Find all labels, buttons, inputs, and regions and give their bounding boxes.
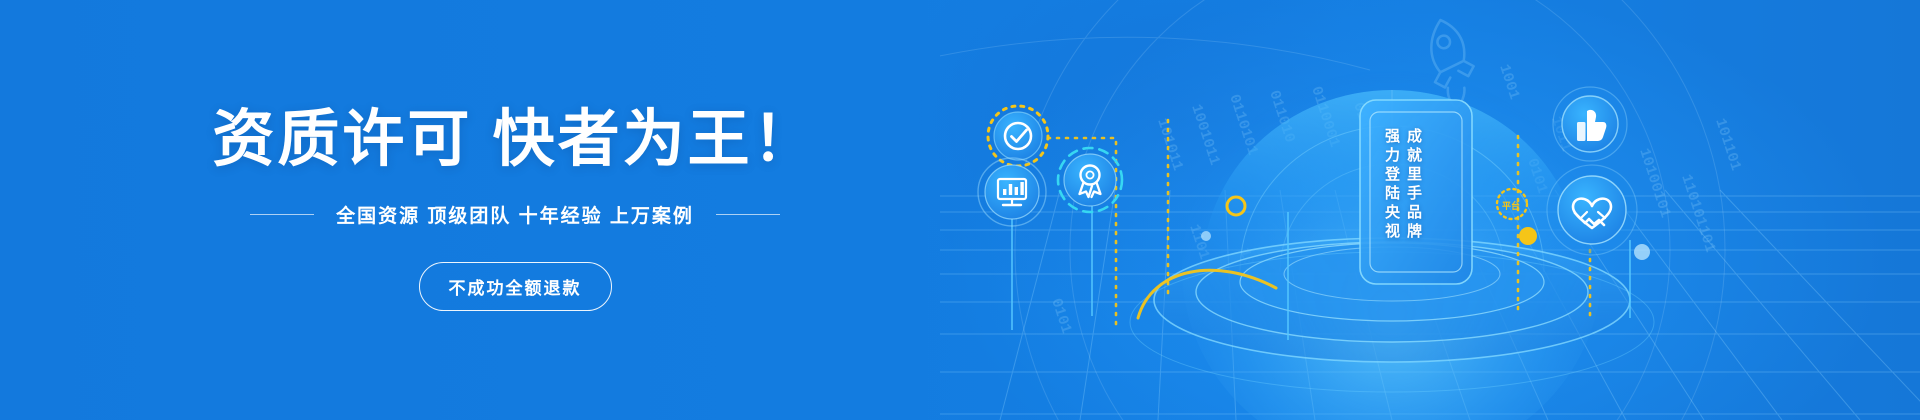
subtitle-rule-left [250,214,314,215]
phone-mockup [1360,100,1472,284]
page-title: 资质许可 快者为王！ [212,109,817,171]
svg-text:110101101: 110101101 [1677,172,1718,254]
thumbs-up-icon [1553,87,1627,161]
svg-text:101011: 101011 [1153,116,1186,173]
svg-text:101101: 101101 [1711,116,1744,173]
tech-illustration: 101011 1001011 0110101 011010 0110001 01… [940,0,1920,420]
hero-banner: 101011 1001011 0110101 011010 0110001 01… [0,0,1920,420]
award-ribbon-icon [1058,148,1122,212]
svg-text:1001011: 1001011 [1187,102,1223,167]
hero-text-block: 资质许可 快者为王！ 全国资源 顶级团队 十年经验 上万案例 不成功全额退款 [0,0,1030,420]
subtitle-rule-right [716,214,780,215]
subtitle-row: 全国资源 顶级团队 十年经验 上万案例 [250,201,780,228]
subtitle-text: 全国资源 顶级团队 十年经验 上万案例 [336,201,694,228]
handshake-heart-icon [1547,165,1637,255]
yellow-dot-marker [1519,227,1537,245]
refund-guarantee-button[interactable]: 不成功全额退款 [419,262,612,311]
svg-text:1001: 1001 [1495,62,1522,102]
svg-text:10100101: 10100101 [1635,146,1673,220]
